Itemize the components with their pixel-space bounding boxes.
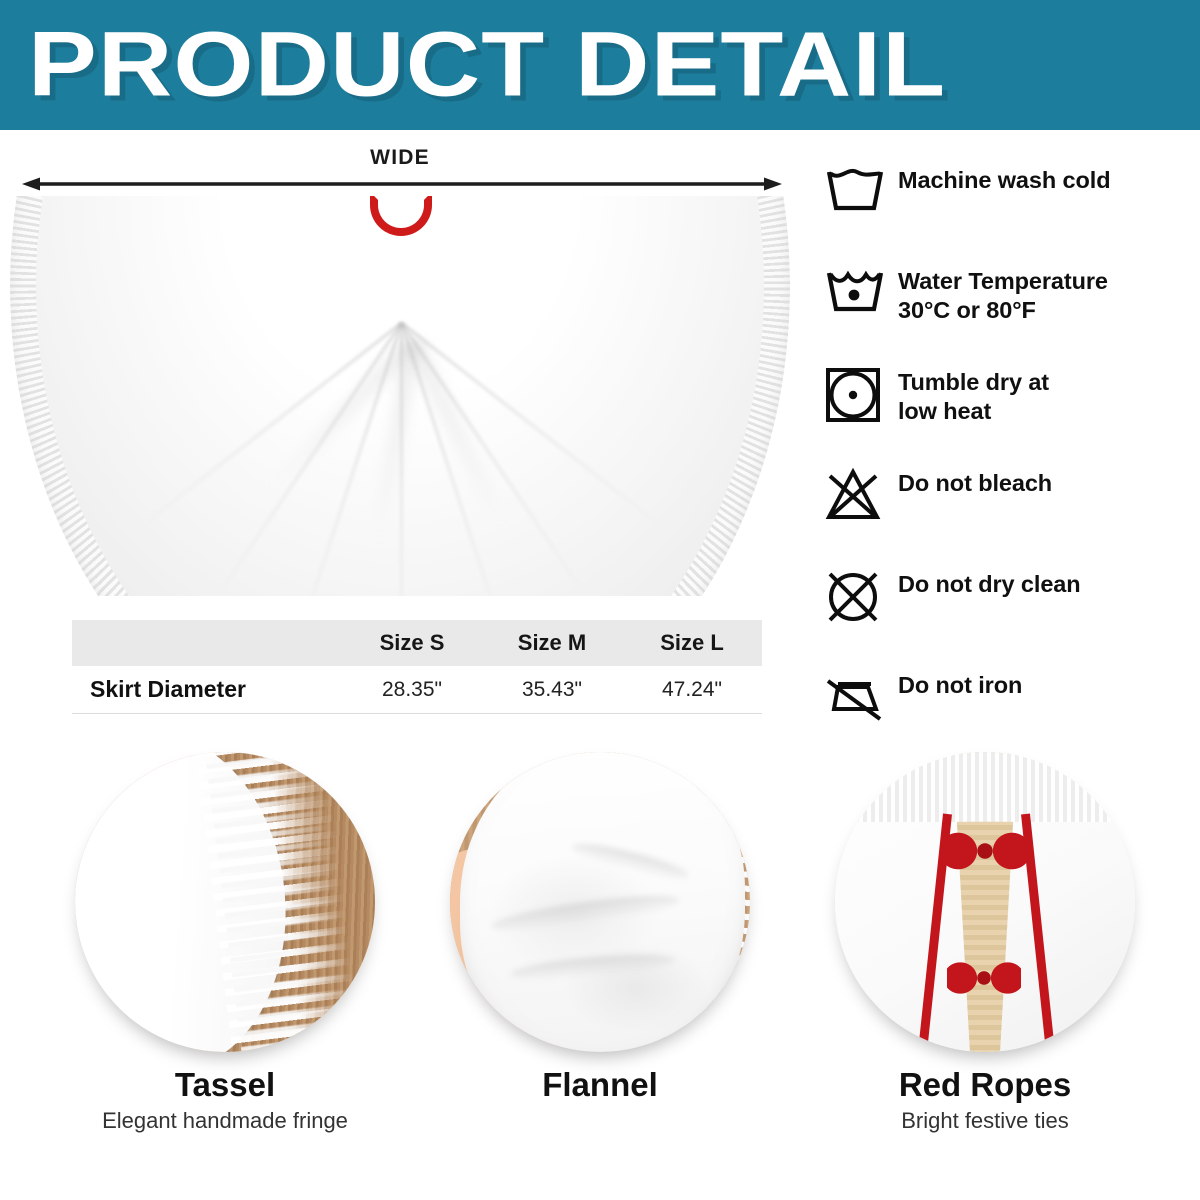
- care-row-do-not-bleach: Do not bleach: [824, 465, 1184, 566]
- feature-image-flannel: [450, 752, 750, 1052]
- row-label-skirt-diameter: Skirt Diameter: [72, 666, 342, 714]
- water-temperature-icon: [824, 263, 898, 315]
- red-bow-bottom: [947, 960, 1021, 996]
- care-row-machine-wash: Machine wash cold: [824, 162, 1184, 263]
- double-headed-arrow-icon: [22, 176, 782, 192]
- cell-size-s: 28.35": [342, 666, 482, 714]
- do-not-iron-icon: [824, 667, 898, 721]
- table-row: Skirt Diameter 28.35" 35.43" 47.24": [72, 666, 762, 714]
- do-not-dry-clean-icon: [824, 566, 898, 626]
- care-label-machine-wash: Machine wash cold: [898, 162, 1110, 195]
- feature-subtitle-red-ropes: Bright festive ties: [820, 1108, 1150, 1134]
- feature-title-flannel: Flannel: [435, 1066, 765, 1104]
- care-label-water-temperature: Water Temperature 30°C or 80°F: [898, 263, 1108, 324]
- care-row-tumble-dry: Tumble dry at low heat: [824, 364, 1184, 465]
- cell-size-l: 47.24": [622, 666, 762, 714]
- size-chart-table: Size S Size M Size L Skirt Diameter 28.3…: [72, 620, 762, 714]
- table-header-size-s: Size S: [342, 620, 482, 666]
- product-hero-image: [0, 196, 800, 596]
- feature-tassel: Tassel Elegant handmade fringe: [60, 752, 390, 1134]
- wide-measurement-label: WIDE: [0, 146, 800, 170]
- do-not-bleach-icon: [824, 465, 898, 521]
- care-row-water-temperature: Water Temperature 30°C or 80°F: [824, 263, 1184, 364]
- red-bow-top: [943, 830, 1027, 872]
- feature-image-red-ropes: [835, 752, 1135, 1052]
- feature-image-tassel: [75, 752, 375, 1052]
- care-instructions-list: Machine wash cold Water Temperature 30°C…: [824, 162, 1184, 768]
- table-header-size-l: Size L: [622, 620, 762, 666]
- care-label-do-not-iron: Do not iron: [898, 667, 1022, 700]
- feature-red-ropes: Red Ropes Bright festive ties: [820, 752, 1150, 1134]
- skirt-flannel-body: [36, 196, 764, 596]
- feature-title-red-ropes: Red Ropes: [820, 1066, 1150, 1104]
- tumble-dry-low-icon: [824, 364, 898, 424]
- care-row-do-not-dry-clean: Do not dry clean: [824, 566, 1184, 667]
- care-label-do-not-dry-clean: Do not dry clean: [898, 566, 1081, 599]
- table-header-row: Size S Size M Size L: [72, 620, 762, 666]
- table-header-blank: [72, 620, 342, 666]
- table-header-size-m: Size M: [482, 620, 622, 666]
- feature-subtitle-tassel: Elegant handmade fringe: [60, 1108, 390, 1134]
- care-label-tumble-dry: Tumble dry at low heat: [898, 364, 1049, 425]
- feature-title-tassel: Tassel: [60, 1066, 390, 1104]
- cell-size-m: 35.43": [482, 666, 622, 714]
- care-label-do-not-bleach: Do not bleach: [898, 465, 1052, 498]
- page-title: PRODUCT DETAIL: [28, 21, 946, 108]
- machine-wash-icon: [824, 162, 898, 214]
- feature-highlights: Tassel Elegant handmade fringe Flannel R…: [0, 752, 1200, 1200]
- feature-flannel: Flannel: [435, 752, 765, 1108]
- header-banner: PRODUCT DETAIL: [0, 0, 1200, 130]
